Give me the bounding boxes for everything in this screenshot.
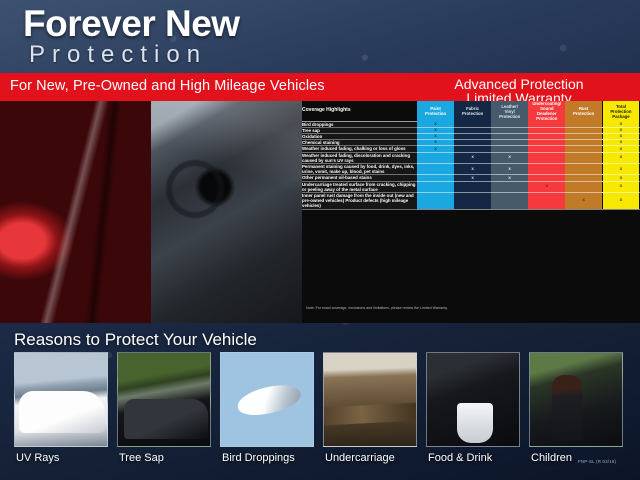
x-icon: x — [620, 167, 623, 172]
x-icon: x — [582, 198, 585, 203]
x-icon: x — [620, 147, 623, 152]
column-header-total: Total Protection Package — [602, 101, 639, 121]
table-row: Inner panel rust damage from the inside … — [302, 192, 640, 209]
column-header-fabric: Fabric Protection — [454, 101, 491, 121]
coverage-mark-empty — [528, 192, 565, 209]
x-icon: x — [471, 167, 474, 172]
x-icon: x — [471, 155, 474, 160]
x-icon: x — [434, 134, 437, 139]
reason-caption-food-drink: Food & Drink — [428, 452, 492, 464]
coverage-mark-empty — [454, 192, 491, 209]
coverage-mark-empty — [565, 163, 602, 174]
hero-photo-car-exterior — [0, 101, 151, 323]
table-note: Note: For exact coverage, exclusions and… — [302, 303, 640, 314]
coverage-mark-empty — [417, 152, 454, 163]
coverage-mark-empty — [528, 163, 565, 174]
table-row: Permanent staining caused by food, drink… — [302, 163, 640, 174]
reason-photo-undercarriage — [323, 352, 417, 447]
poster-subtitle: Protection — [29, 43, 207, 67]
col-fabric-l2: Protection — [454, 111, 491, 116]
x-icon: x — [620, 134, 623, 139]
coverage-mark-yes: x — [602, 181, 639, 192]
x-icon: x — [434, 128, 437, 133]
coverage-mark-yes: x — [602, 152, 639, 163]
x-icon: x — [434, 140, 437, 145]
column-header-rust: Rust Protection — [565, 101, 602, 121]
x-icon: x — [545, 184, 548, 189]
x-icon: x — [434, 147, 437, 152]
coverage-mark-yes: x — [454, 163, 491, 174]
x-icon: x — [508, 155, 511, 160]
coverage-mark-yes: x — [454, 152, 491, 163]
x-icon: x — [620, 122, 623, 127]
x-icon: x — [471, 176, 474, 181]
column-header-undercoating: Undercoating/ Sound Deadener Protection — [528, 101, 565, 121]
reason-caption-children: Children — [531, 452, 572, 464]
coverage-mark-yes: x — [491, 163, 528, 174]
table-row: Weather induced fading, discoloration an… — [302, 152, 640, 163]
coverage-table-body: Bird droppingsxxTree sapxxOxidationxxChe… — [302, 121, 640, 209]
coverage-mark-empty — [565, 152, 602, 163]
col-total-l3: Package — [603, 114, 639, 119]
warranty-heading-line1: Advanced Protection — [398, 77, 640, 91]
table-header-row: Coverage Highlights Paint Protection Fab… — [302, 101, 640, 121]
coverage-mark-empty — [454, 181, 491, 192]
row-label: Weather induced fading, chalking or loss… — [302, 146, 417, 152]
column-header-paint: Paint Protection — [417, 101, 454, 121]
coverage-table: Coverage Highlights Paint Protection Fab… — [302, 101, 640, 210]
col-rust-l2: Protection — [565, 111, 602, 116]
poster-title: Forever New — [23, 5, 240, 42]
coverage-table-wrap: Coverage Highlights Paint Protection Fab… — [302, 101, 640, 323]
x-icon: x — [508, 176, 511, 181]
hero-photo-car-interior — [151, 101, 302, 323]
coverage-mark-empty — [565, 181, 602, 192]
x-icon: x — [434, 122, 437, 127]
reasons-title: Reasons to Protect Your Vehicle — [14, 330, 257, 350]
x-icon: x — [620, 176, 623, 181]
col-leather-l3: Protection — [491, 114, 528, 119]
coverage-mark-empty — [417, 163, 454, 174]
reason-caption-undercarriage: Undercarriage — [325, 452, 395, 464]
table-corner-label: Coverage Highlights — [302, 101, 417, 121]
row-label: Weather induced fading, discoloration an… — [302, 152, 417, 163]
reason-photo-uv-rays — [14, 352, 108, 447]
row-label: Permanent staining caused by food, drink… — [302, 163, 417, 174]
x-icon: x — [620, 140, 623, 145]
form-code: FNP-SL (R 03/16) — [578, 459, 616, 464]
coverage-mark-empty — [528, 152, 565, 163]
reason-photo-tree-sap — [117, 352, 211, 447]
x-icon: x — [620, 155, 623, 160]
coverage-mark-yes: x — [565, 192, 602, 209]
reason-photo-food-drink — [426, 352, 520, 447]
x-icon: x — [620, 128, 623, 133]
hero-photo-row — [0, 101, 302, 323]
x-icon: x — [620, 184, 623, 189]
coverage-mark-yes: x — [602, 163, 639, 174]
masthead: Forever New Protection — [0, 0, 640, 72]
reason-caption-bird-droppings: Bird Droppings — [222, 452, 295, 464]
coverage-mark-empty — [491, 181, 528, 192]
x-icon: x — [620, 198, 623, 203]
coverage-mark-empty — [417, 181, 454, 192]
col-paint-l2: Protection — [417, 111, 454, 116]
reason-photo-bird-droppings — [220, 352, 314, 447]
coverage-mark-empty — [417, 192, 454, 209]
table-row: Undercarriage treated surface from crack… — [302, 181, 640, 192]
coverage-mark-yes: x — [602, 192, 639, 209]
coverage-mark-yes: x — [491, 152, 528, 163]
column-header-leather: Leather/ Vinyl Protection — [491, 101, 528, 121]
reason-caption-uv-rays: UV Rays — [16, 452, 59, 464]
coverage-mark-yes: x — [528, 181, 565, 192]
tagline: For New, Pre-Owned and High Mileage Vehi… — [10, 78, 390, 94]
row-label: Inner panel rust damage from the inside … — [302, 192, 417, 209]
reasons-photo-strip — [14, 352, 628, 447]
coverage-mark-empty — [491, 192, 528, 209]
reason-caption-tree-sap: Tree Sap — [119, 452, 164, 464]
row-label: Undercarriage treated surface from crack… — [302, 181, 417, 192]
reason-photo-children — [529, 352, 623, 447]
x-icon: x — [508, 167, 511, 172]
poster: Forever New Protection For New, Pre-Owne… — [0, 0, 640, 480]
